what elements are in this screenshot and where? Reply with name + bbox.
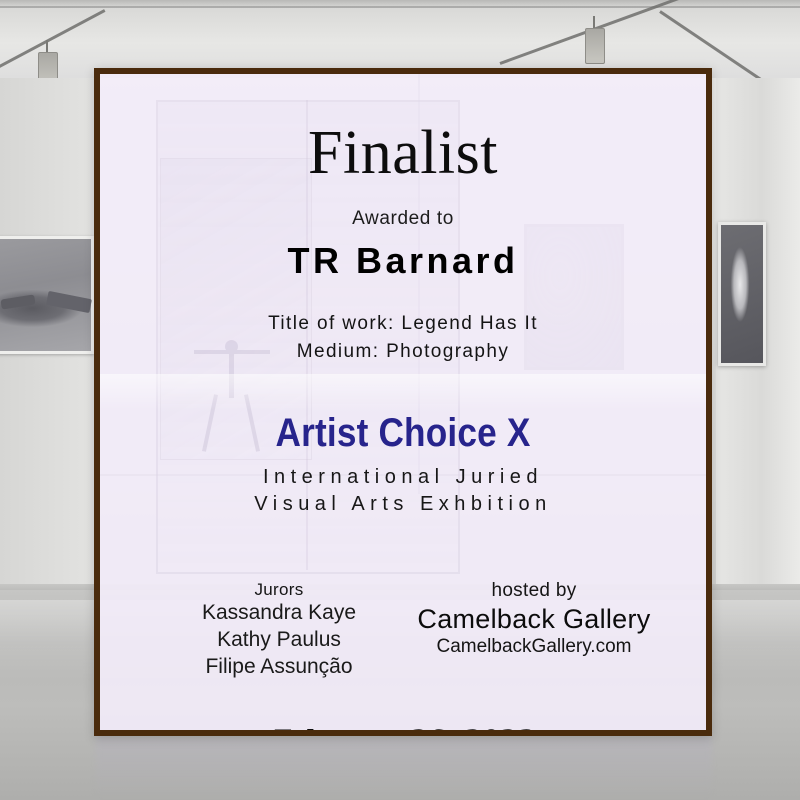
- certificate-content: Finalist Awarded to TR Barnard Title of …: [100, 74, 706, 730]
- juror-name: Filipe Assunção: [154, 654, 404, 681]
- exhibition-subtitle-line-1: International Juried: [100, 464, 706, 491]
- gallery-far-right-wall: [762, 78, 800, 590]
- juror-name: Kathy Paulus: [154, 627, 404, 654]
- certificate-date: February 26, 2023: [100, 725, 706, 736]
- juror-name: Kassandra Kaye: [154, 600, 404, 627]
- certificate-title: Finalist: [100, 74, 706, 184]
- spotlight-icon-right: [585, 28, 605, 64]
- artwork-left-image: [0, 239, 91, 351]
- host-block: hosted by Camelback Gallery CamelbackGal…: [404, 580, 664, 681]
- exhibition-subtitle-line-2: Visual Arts Exhbition: [100, 491, 706, 518]
- host-gallery-name: Camelback Gallery: [404, 604, 664, 635]
- recipient-name: TR Barnard: [100, 240, 706, 282]
- ceiling-seam-line: [0, 6, 800, 8]
- host-gallery-url: CamelbackGallery.com: [404, 636, 664, 658]
- certificate-floor-reflection: [96, 736, 712, 800]
- artwork-right-vertical-print: [718, 222, 766, 366]
- awarded-to-label: Awarded to: [100, 208, 706, 230]
- hosted-by-label: hosted by: [404, 580, 664, 602]
- gallery-certificate-scene: Finalist Awarded to TR Barnard Title of …: [0, 0, 800, 800]
- work-title-line: Title of work: Legend Has It: [100, 310, 706, 338]
- work-medium-line: Medium: Photography: [100, 338, 706, 366]
- certificate-footer-columns: Jurors Kassandra Kaye Kathy Paulus Filip…: [154, 580, 652, 681]
- certificate-panel: Finalist Awarded to TR Barnard Title of …: [94, 68, 712, 736]
- exhibition-name: Artist Choice X: [136, 411, 669, 456]
- work-details: Title of work: Legend Has It Medium: Pho…: [100, 310, 706, 365]
- gallery-ceiling: [0, 0, 800, 78]
- jurors-block: Jurors Kassandra Kaye Kathy Paulus Filip…: [154, 580, 404, 681]
- artwork-right-image: [730, 245, 750, 339]
- exhibition-subtitle: International Juried Visual Arts Exhbiti…: [100, 464, 706, 518]
- artwork-left-bird-print: [0, 236, 94, 354]
- jurors-heading: Jurors: [154, 580, 404, 600]
